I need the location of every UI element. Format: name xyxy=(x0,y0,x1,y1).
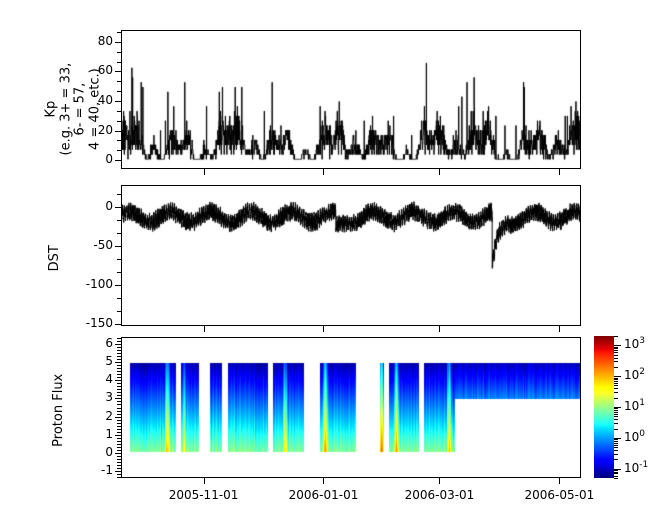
axis-label-line: Kp xyxy=(44,39,59,178)
y-major-tick xyxy=(115,453,121,454)
y-minor-tick xyxy=(117,338,121,339)
x-tick-label: 2006-01-01 xyxy=(273,488,373,502)
colorbar-minor-tick xyxy=(614,454,618,455)
axis-label-line: DST xyxy=(48,187,63,328)
y-minor-tick xyxy=(117,450,121,451)
colorbar-minor-tick xyxy=(614,352,618,353)
y-minor-tick xyxy=(117,377,121,378)
y-tick-label: 80 xyxy=(98,34,113,48)
colorbar-tick-label: 102 xyxy=(624,367,645,382)
y-minor-tick xyxy=(117,121,121,122)
y-minor-tick xyxy=(117,150,121,151)
y-minor-tick xyxy=(117,194,121,195)
y-minor-tick xyxy=(117,465,121,466)
x-major-tick xyxy=(439,169,440,175)
colorbar-tick-label: 10-1 xyxy=(624,460,648,475)
y-minor-tick xyxy=(117,386,121,387)
colorbar-minor-tick xyxy=(614,336,618,337)
y-minor-tick xyxy=(117,259,121,260)
x-major-tick xyxy=(439,478,440,484)
y-minor-tick xyxy=(117,429,121,430)
colorbar-minor-tick xyxy=(614,355,618,356)
y-tick-label: 20 xyxy=(98,123,113,137)
colorbar-tick-label: 101 xyxy=(624,398,645,413)
axis-label-line: (e.g. 3+ = 33, xyxy=(58,39,73,178)
y-minor-tick xyxy=(117,111,121,112)
x-major-tick xyxy=(204,478,205,484)
y-tick-label: -1 xyxy=(101,463,113,477)
y-minor-tick xyxy=(117,401,121,402)
proton-flux-plot-panel xyxy=(121,337,581,478)
colorbar-minor-tick xyxy=(614,478,618,479)
dst-axis-label: DST xyxy=(48,187,63,328)
y-minor-tick xyxy=(117,420,121,421)
y-major-tick xyxy=(115,435,121,436)
y-major-tick xyxy=(115,71,121,72)
colorbar-tick-label: 100 xyxy=(624,429,645,444)
y-tick-label: 5 xyxy=(105,354,113,368)
y-minor-tick xyxy=(117,444,121,445)
x-major-tick xyxy=(559,326,560,332)
colorbar-minor-tick xyxy=(614,472,618,473)
y-minor-tick xyxy=(117,447,121,448)
y-minor-tick xyxy=(117,347,121,348)
y-minor-tick xyxy=(117,365,121,366)
y-major-tick xyxy=(115,471,121,472)
colorbar-major-tick xyxy=(614,376,621,377)
y-minor-tick xyxy=(117,353,121,354)
colorbar-minor-tick xyxy=(614,398,618,399)
x-major-tick xyxy=(559,169,560,175)
y-tick-label: 2 xyxy=(105,409,113,423)
colorbar-minor-tick xyxy=(614,348,618,349)
x-major-tick xyxy=(204,326,205,332)
colorbar-minor-tick xyxy=(614,392,618,393)
colorbar-minor-tick xyxy=(614,361,618,362)
colorbar-minor-tick xyxy=(614,476,618,477)
y-major-tick xyxy=(115,380,121,381)
y-minor-tick xyxy=(117,462,121,463)
y-major-tick xyxy=(115,246,121,247)
y-major-tick xyxy=(115,101,121,102)
proton-flux-axis-label: Proton Flux xyxy=(52,339,67,480)
colorbar-major-tick xyxy=(614,345,621,346)
y-minor-tick xyxy=(117,62,121,63)
y-tick-label: -50 xyxy=(93,238,113,252)
colorbar-minor-tick xyxy=(614,445,618,446)
y-minor-tick xyxy=(117,414,121,415)
kp-plot-panel xyxy=(121,30,581,169)
y-minor-tick xyxy=(117,368,121,369)
y-minor-tick xyxy=(117,426,121,427)
colorbar-minor-tick xyxy=(614,379,618,380)
x-major-tick xyxy=(323,326,324,332)
colorbar-minor-tick xyxy=(614,383,618,384)
y-minor-tick xyxy=(117,392,121,393)
x-major-tick xyxy=(559,478,560,484)
y-tick-label: 6 xyxy=(105,336,113,350)
colorbar-minor-tick xyxy=(614,378,618,379)
y-minor-tick xyxy=(117,438,121,439)
y-tick-label: 1 xyxy=(105,427,113,441)
y-minor-tick xyxy=(117,404,121,405)
x-tick-label: 2006-03-01 xyxy=(389,488,489,502)
y-minor-tick xyxy=(117,350,121,351)
y-minor-tick xyxy=(117,220,121,221)
y-major-tick xyxy=(115,42,121,43)
colorbar-minor-tick xyxy=(614,367,618,368)
x-major-tick xyxy=(323,169,324,175)
y-minor-tick xyxy=(117,233,121,234)
colorbar-tick-label: 103 xyxy=(624,336,645,351)
y-major-tick xyxy=(115,324,121,325)
y-minor-tick xyxy=(117,341,121,342)
y-major-tick xyxy=(115,362,121,363)
axis-label-line: 6- = 57, xyxy=(73,39,88,178)
y-major-tick xyxy=(115,398,121,399)
colorbar-minor-tick xyxy=(614,416,618,417)
y-minor-tick xyxy=(117,389,121,390)
y-major-tick xyxy=(115,344,121,345)
y-minor-tick xyxy=(117,356,121,357)
y-minor-tick xyxy=(117,432,121,433)
y-minor-tick xyxy=(117,468,121,469)
y-minor-tick xyxy=(117,359,121,360)
y-minor-tick xyxy=(117,477,121,478)
y-minor-tick xyxy=(117,298,121,299)
y-minor-tick xyxy=(117,374,121,375)
colorbar-minor-tick xyxy=(614,447,618,448)
y-tick-label: 0 xyxy=(105,152,113,166)
y-tick-label: -100 xyxy=(86,277,113,291)
x-tick-label: 2006-05-01 xyxy=(509,488,609,502)
colorbar-minor-tick xyxy=(614,429,618,430)
y-major-tick xyxy=(115,417,121,418)
y-minor-tick xyxy=(117,441,121,442)
colorbar-minor-tick xyxy=(614,459,618,460)
colorbar-minor-tick xyxy=(614,347,618,348)
colorbar-minor-tick xyxy=(614,388,618,389)
y-minor-tick xyxy=(117,411,121,412)
colorbar-minor-tick xyxy=(614,381,618,382)
y-minor-tick xyxy=(117,32,121,33)
y-tick-label: 3 xyxy=(105,390,113,404)
colorbar-minor-tick xyxy=(614,385,618,386)
colorbar-minor-tick xyxy=(614,439,618,440)
y-minor-tick xyxy=(117,456,121,457)
x-major-tick xyxy=(439,326,440,332)
y-tick-label: 0 xyxy=(105,199,113,213)
colorbar-minor-tick xyxy=(614,412,618,413)
y-minor-tick xyxy=(117,423,121,424)
x-major-tick xyxy=(323,478,324,484)
axis-label-line: 4 = 40, etc.) xyxy=(88,39,103,178)
colorbar-minor-tick xyxy=(614,470,618,471)
colorbar-minor-tick xyxy=(614,414,618,415)
y-major-tick xyxy=(115,207,121,208)
colorbar-minor-tick xyxy=(614,441,618,442)
y-minor-tick xyxy=(117,474,121,475)
y-tick-label: -150 xyxy=(86,316,113,330)
colorbar-minor-tick xyxy=(614,410,618,411)
y-major-tick xyxy=(115,285,121,286)
y-minor-tick xyxy=(117,408,121,409)
y-minor-tick xyxy=(117,140,121,141)
colorbar-minor-tick xyxy=(614,408,618,409)
colorbar-minor-tick xyxy=(614,450,618,451)
y-minor-tick xyxy=(117,383,121,384)
y-minor-tick xyxy=(117,91,121,92)
y-tick-label: 60 xyxy=(98,63,113,77)
colorbar-minor-tick xyxy=(614,358,618,359)
y-minor-tick xyxy=(117,81,121,82)
y-major-tick xyxy=(115,160,121,161)
y-minor-tick xyxy=(117,459,121,460)
y-minor-tick xyxy=(117,371,121,372)
y-tick-label: 0 xyxy=(105,445,113,459)
y-minor-tick xyxy=(117,272,121,273)
y-tick-label: 4 xyxy=(105,372,113,386)
colorbar-minor-tick xyxy=(614,419,618,420)
colorbar-minor-tick xyxy=(614,350,618,351)
dst-plot-panel xyxy=(121,185,581,326)
y-tick-label: 40 xyxy=(98,93,113,107)
colorbar-minor-tick xyxy=(614,443,618,444)
colorbar xyxy=(594,336,614,478)
colorbar-minor-tick xyxy=(614,473,618,474)
y-major-tick xyxy=(115,131,121,132)
colorbar-minor-tick xyxy=(614,423,618,424)
y-minor-tick xyxy=(117,52,121,53)
x-tick-label: 2005-11-01 xyxy=(154,488,254,502)
kp-axis-label: Kp(e.g. 3+ = 33,6- = 57,4 = 40, etc.) xyxy=(44,39,102,178)
axis-label-line: Proton Flux xyxy=(52,339,67,480)
x-major-tick xyxy=(204,169,205,175)
y-minor-tick xyxy=(117,395,121,396)
figure-canvas: Kp(e.g. 3+ = 33,6- = 57,4 = 40, etc.) 02… xyxy=(0,0,665,523)
y-minor-tick xyxy=(117,311,121,312)
